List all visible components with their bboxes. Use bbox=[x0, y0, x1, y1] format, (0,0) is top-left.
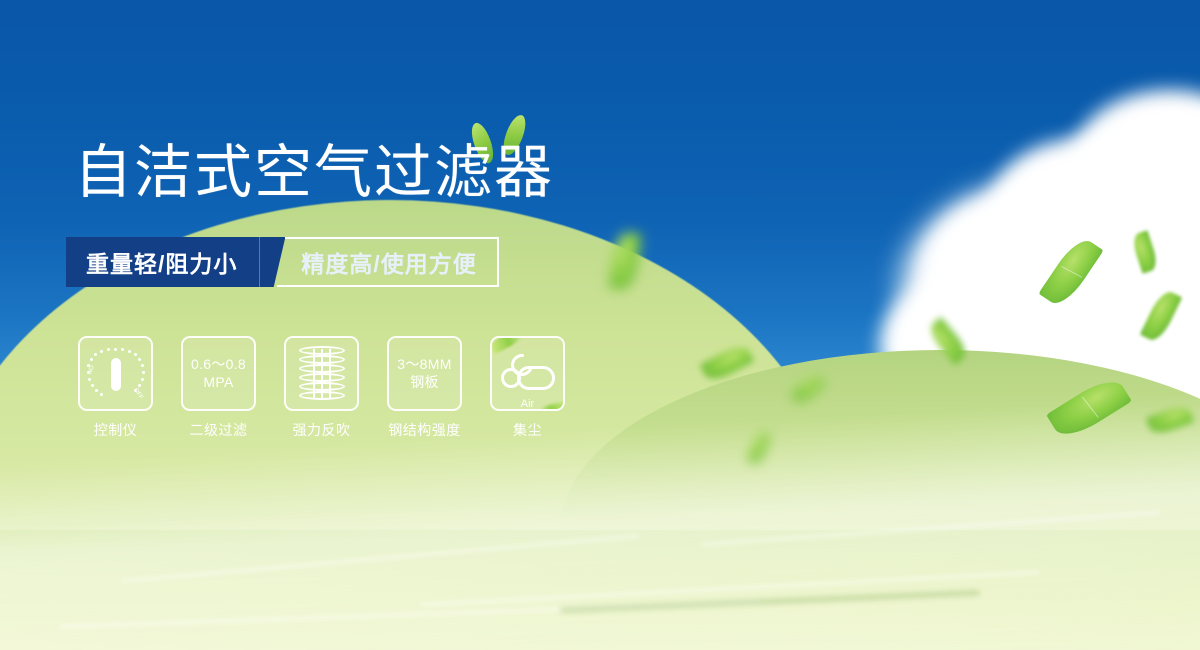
feature-caption: 二级过滤 bbox=[190, 420, 248, 440]
pressure-value: 0.6～0.8 bbox=[191, 356, 246, 374]
page-title: 自洁式空气过滤器 bbox=[74, 144, 554, 202]
dial-gauge-icon: NO OFF bbox=[87, 345, 145, 403]
feature-item-steel-strength[interactable]: 3～8MM 钢板 钢结构强度 bbox=[387, 336, 462, 440]
feature-caption: 集尘 bbox=[513, 420, 542, 440]
feature-box bbox=[284, 336, 359, 411]
promo-banner: 自洁式空气过滤器 重量轻/阻力小 精度高/使用方便 bbox=[0, 0, 1200, 650]
feature-caption: 强力反吹 bbox=[293, 420, 351, 440]
tagline-primary: 重量轻/阻力小 bbox=[66, 237, 259, 287]
steel-plate-text-icon: 3～8MM 钢板 bbox=[397, 356, 451, 391]
dial-label-off: OFF bbox=[132, 387, 143, 400]
feature-item-filtration[interactable]: 0.6～0.8 MPA 二级过滤 bbox=[181, 336, 256, 440]
feature-item-backblow[interactable]: 强力反吹 bbox=[284, 336, 359, 440]
feature-icon-row: NO OFF 控制仪 0.6～0.8 MPA 二级过滤 bbox=[78, 336, 565, 440]
air-label: Air bbox=[501, 398, 555, 410]
tagline-row: 重量轻/阻力小 精度高/使用方便 bbox=[66, 237, 499, 287]
feature-box: NO OFF bbox=[78, 336, 153, 411]
feature-item-controller[interactable]: NO OFF 控制仪 bbox=[78, 336, 153, 440]
feature-box: 3～8MM 钢板 bbox=[387, 336, 462, 411]
tagline-secondary: 精度高/使用方便 bbox=[277, 237, 498, 287]
feature-box: 0.6～0.8 MPA bbox=[181, 336, 256, 411]
pressure-unit: MPA bbox=[191, 374, 246, 392]
feature-box: Air bbox=[490, 336, 565, 411]
feature-item-dust-collection[interactable]: Air 集尘 bbox=[490, 336, 565, 440]
air-cloud-icon: Air bbox=[501, 352, 555, 396]
steel-material: 钢板 bbox=[397, 374, 451, 392]
coil-filter-icon bbox=[299, 346, 345, 402]
steel-thickness: 3～8MM bbox=[397, 356, 451, 374]
feature-caption: 控制仪 bbox=[94, 420, 138, 440]
feature-caption: 钢结构强度 bbox=[388, 420, 461, 440]
pressure-text-icon: 0.6～0.8 MPA bbox=[191, 356, 246, 391]
